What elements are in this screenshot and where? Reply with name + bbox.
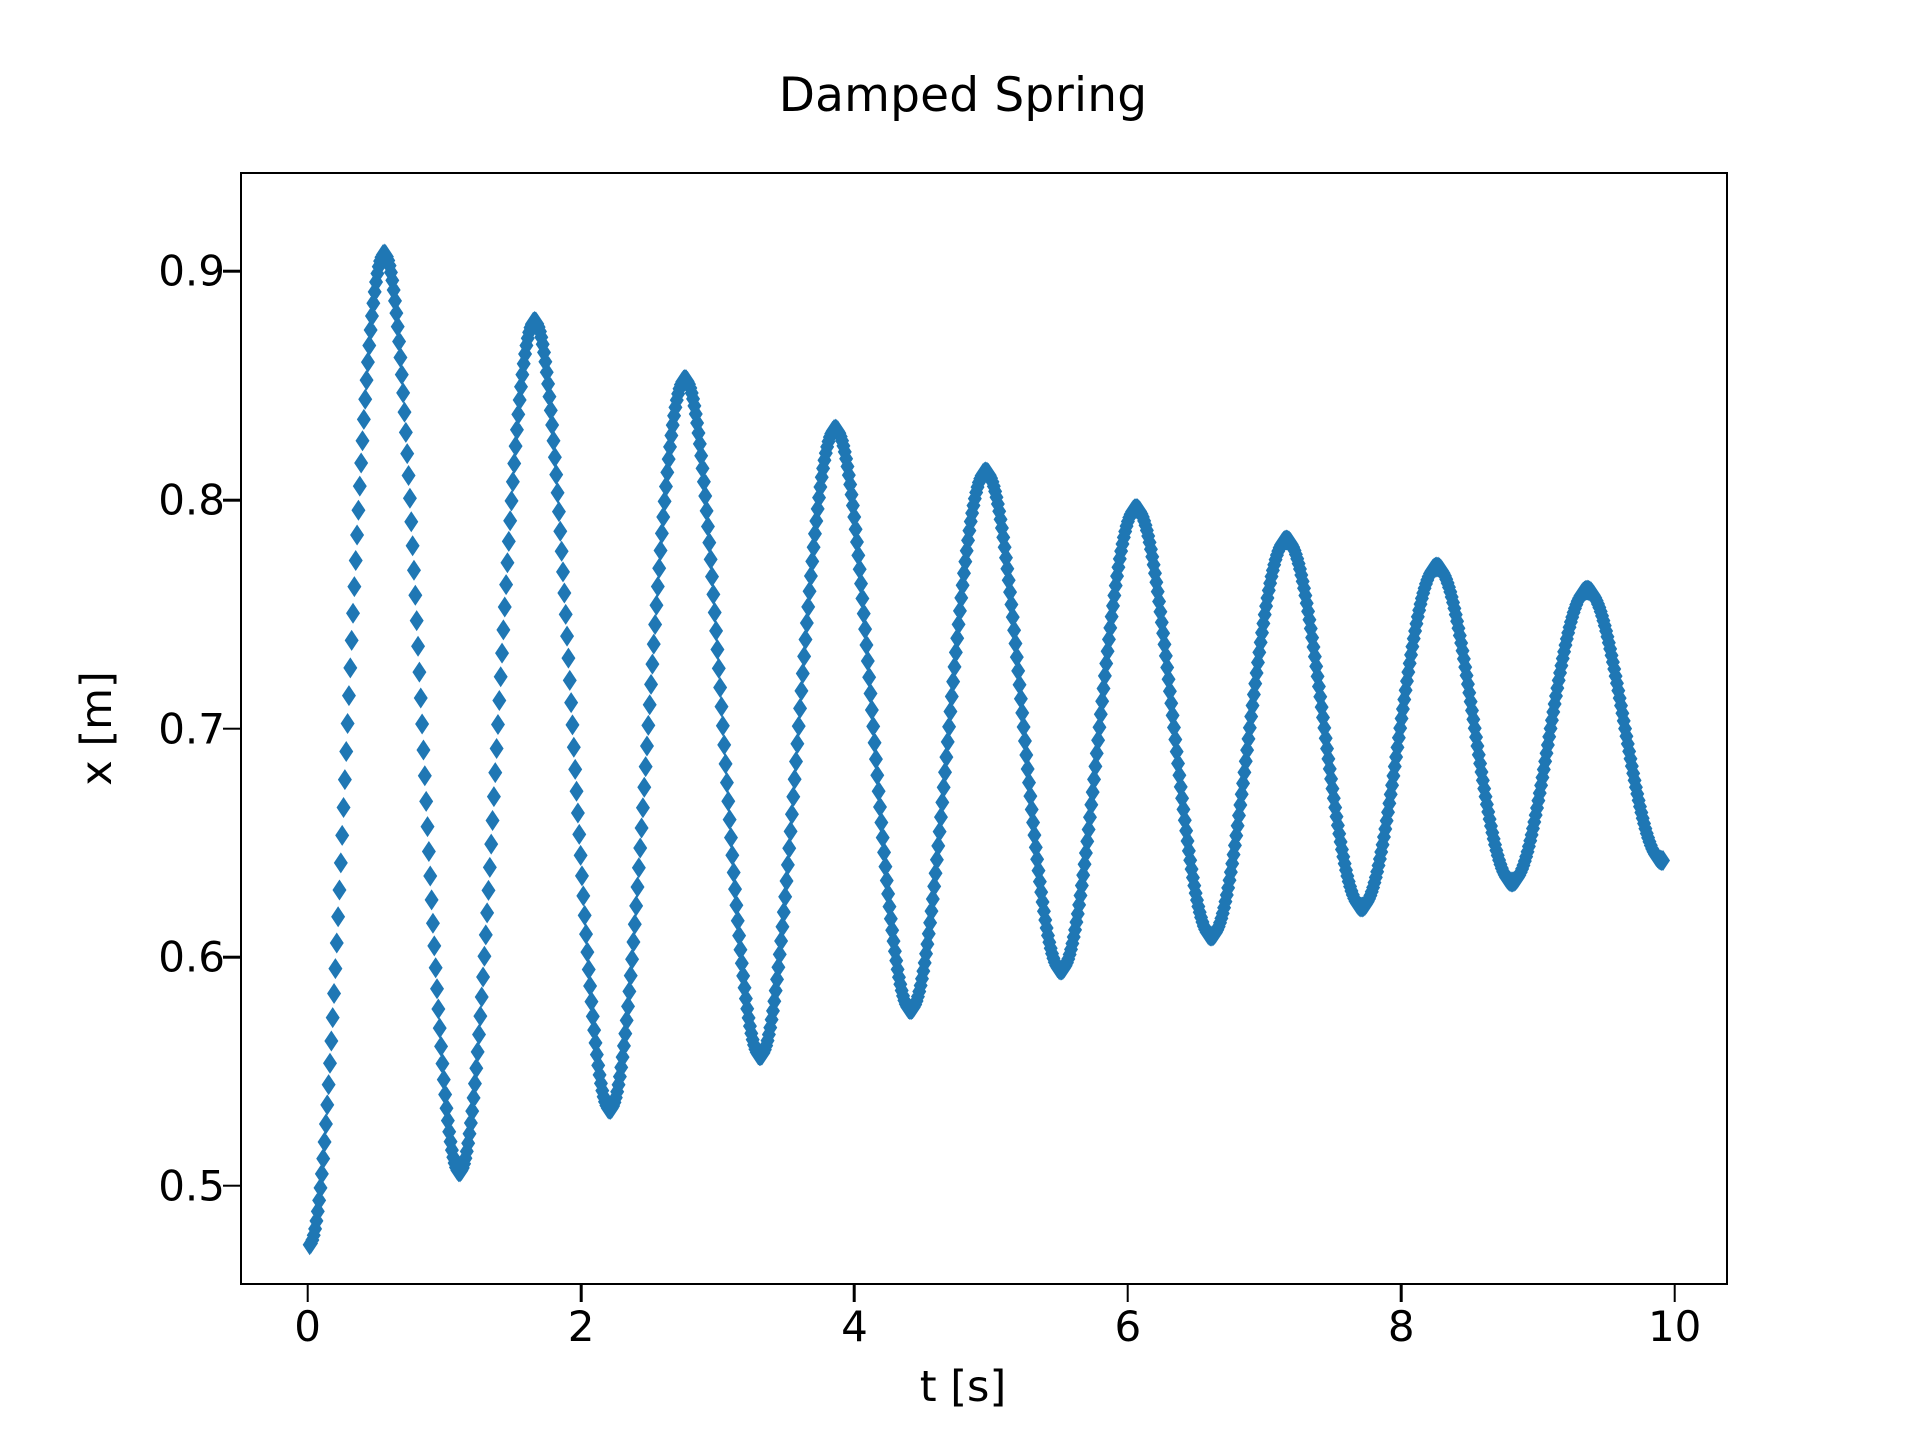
x-tick-mark [1400, 1285, 1403, 1302]
chart-title: Damped Spring [0, 68, 1920, 123]
x-tick-label: 6 [1115, 1302, 1142, 1351]
y-tick-mark [223, 1184, 240, 1187]
y-tick-label: 0.7 [158, 704, 225, 753]
x-tick-mark [1127, 1285, 1130, 1302]
y-tick-mark [223, 956, 240, 959]
y-tick-mark [223, 270, 240, 273]
y-axis-label-text: x [m] [72, 671, 122, 786]
x-tick-mark [580, 1285, 583, 1302]
y-tick-label: 0.5 [158, 1161, 225, 1210]
plot-axes [240, 172, 1728, 1285]
scatter-series [242, 174, 1728, 1285]
y-axis-label: x [m] [72, 172, 122, 1285]
x-tick-mark [306, 1285, 309, 1302]
x-axis-label-text: t [s] [920, 1362, 1006, 1412]
data-points-group [303, 243, 1670, 1255]
chart-title-text: Damped Spring [779, 68, 1148, 123]
y-tick-label: 0.9 [158, 247, 225, 296]
x-tick-label: 0 [294, 1302, 321, 1351]
x-tick-mark [853, 1285, 856, 1302]
matplotlib-figure: Damped Spring 0.50.60.70.80.9 0246810 t … [0, 0, 1920, 1440]
scatter-markers [303, 243, 1670, 1255]
y-tick-label: 0.8 [158, 475, 225, 524]
x-tick-label: 4 [841, 1302, 868, 1351]
x-tick-label: 2 [568, 1302, 595, 1351]
y-tick-label: 0.6 [158, 933, 225, 982]
y-tick-mark [223, 499, 240, 502]
x-tick-label: 10 [1648, 1302, 1701, 1351]
y-tick-mark [223, 727, 240, 730]
x-tick-label: 8 [1388, 1302, 1415, 1351]
x-tick-mark [1673, 1285, 1676, 1302]
x-axis-label: t [s] [0, 1362, 1920, 1412]
